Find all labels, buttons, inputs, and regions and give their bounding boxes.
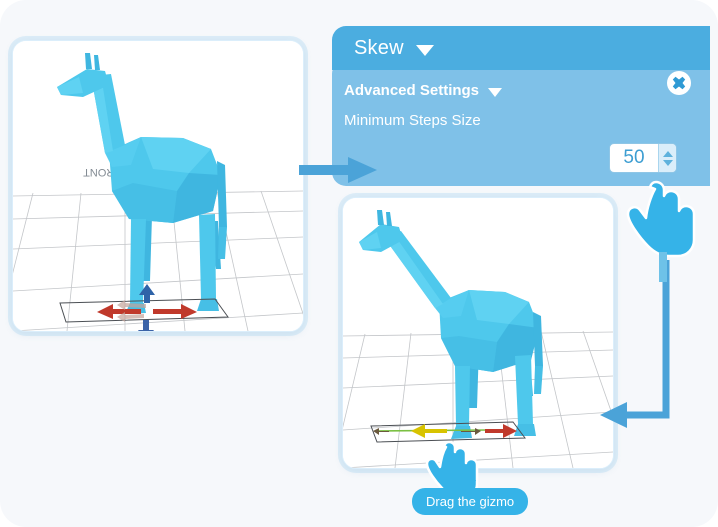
panel-header[interactable]: Skew <box>332 26 710 70</box>
caret-up-icon[interactable] <box>663 151 673 157</box>
giraffe-upright-scene: FRONT <box>13 41 303 331</box>
panel-title: Skew <box>354 37 404 60</box>
tooltip-drag-the-gizmo: Drag the gizmo <box>412 488 528 515</box>
giraffe-skewed-scene <box>343 198 613 468</box>
close-circle-icon[interactable] <box>666 70 692 96</box>
viewport-after[interactable] <box>342 197 614 469</box>
advanced-settings-toggle[interactable]: Advanced Settings <box>344 82 502 99</box>
chevron-down-icon[interactable] <box>488 88 502 97</box>
advanced-settings-label: Advanced Settings <box>344 82 479 99</box>
skew-settings-panel: Skew Advanced Settings Minimum Steps Siz… <box>332 26 710 186</box>
minimum-steps-size-value[interactable]: 50 <box>610 144 658 172</box>
tutorial-screenshot: FRONT <box>0 0 718 527</box>
pointing-hand-cursor-panel <box>628 182 694 282</box>
viewport-before[interactable]: FRONT <box>12 40 304 332</box>
chevron-down-icon[interactable] <box>416 45 434 56</box>
minimum-steps-size-label: Minimum Steps Size <box>344 112 481 129</box>
minimum-steps-size-stepper[interactable]: 50 <box>609 143 677 173</box>
caret-down-icon[interactable] <box>663 160 673 166</box>
stepper-buttons[interactable] <box>658 144 676 172</box>
